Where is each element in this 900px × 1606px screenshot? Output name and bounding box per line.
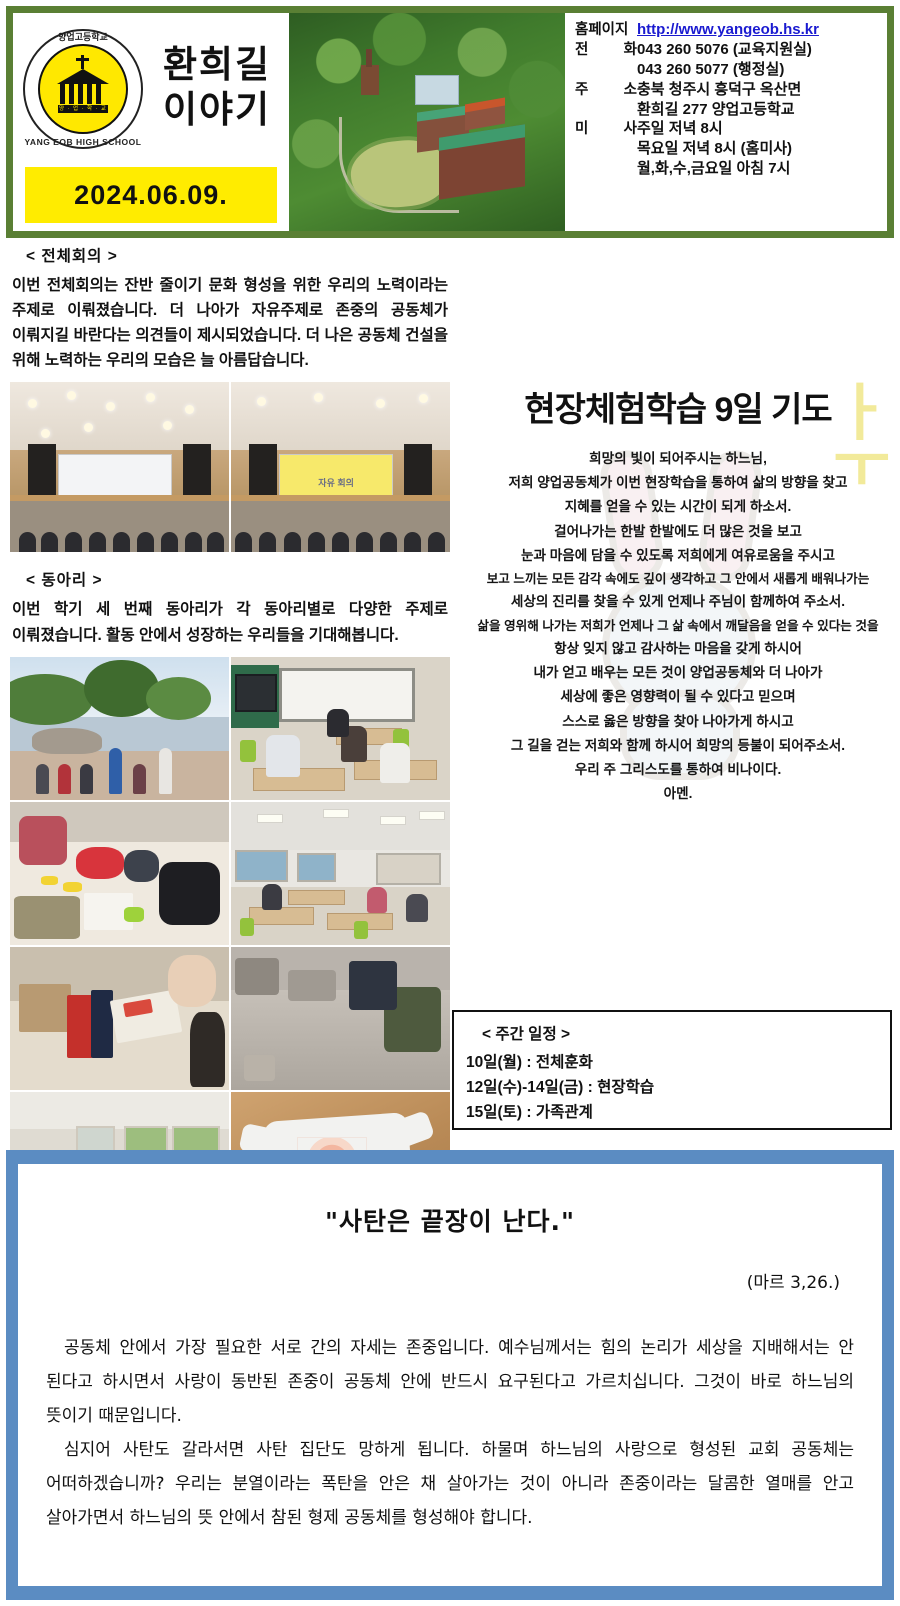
assembly-slide-2-text: 자유 회의 xyxy=(318,476,354,489)
prayer-body: 희망의 빛이 되어주시는 하느님,저희 양업공동체가 이번 현장학습을 통하여 … xyxy=(458,447,898,806)
assembly-section-title: < 전체회의 > xyxy=(10,244,450,266)
club-photo-boxes xyxy=(10,947,229,1090)
club-photo-craft-table xyxy=(10,802,229,945)
assembly-section-body: 이번 전체회의는 잔반 줄이기 문화 형성을 위한 우리의 노력이라는 주제로 … xyxy=(10,273,450,373)
contact-label: 홈페이지 xyxy=(575,23,637,38)
club-paragraph: 이번 학기 세 번째 동아리가 각 동아리별로 다양한 주제로 이뤄졌습니다. … xyxy=(12,597,448,647)
scripture-attribution: (마르 3,26.) xyxy=(46,1268,854,1293)
masthead: 양업고등학교 1998 양 · 업 · 학 · 교 YANG EOB HIGH … xyxy=(13,13,289,231)
newsletter-page: 양업고등학교 1998 양 · 업 · 학 · 교 YANG EOB HIGH … xyxy=(0,0,900,1606)
weekly-schedule-box: < 주간 일정 > 10일(월) : 전체훈화12일(수)-14일(금) : 현… xyxy=(452,1010,892,1130)
prayer-line: 희망의 빛이 되어주시는 하느님, xyxy=(458,447,898,471)
emblem-arc-bottom-text: YANG EOB HIGH SCHOOL xyxy=(21,137,145,147)
homily-text: 공동체 안에서 가장 필요한 서로 간의 자세는 존중입니다. 예수님께서는 힘… xyxy=(46,1331,854,1535)
homepage-link[interactable]: http://www.yangeob.hs.kr xyxy=(637,22,819,37)
prayer-panel: ㅏㅜ 현장체험학습 9일 기도 희망의 빛이 되어주시는 하느님,저희 양업공동… xyxy=(458,382,898,806)
club-section-title: < 동아리 > xyxy=(10,568,450,590)
contact-label: 전화 xyxy=(575,43,637,58)
schedule-row: 12일(수)-14일(금) : 현장학습 xyxy=(466,1075,890,1100)
prayer-line: 저희 양업공동체가 이번 현장학습을 통하여 삶의 방향을 찾고 xyxy=(458,471,898,495)
newsletter-header: 양업고등학교 1998 양 · 업 · 학 · 교 YANG EOB HIGH … xyxy=(6,6,894,238)
emblem-base-text: 양 · 업 · 학 · 교 xyxy=(58,105,108,113)
schedule-row: 10일(월) : 전체훈화 xyxy=(466,1050,890,1075)
contact-row: 043 260 5077 (행정실) xyxy=(575,62,881,77)
club-photo-grid xyxy=(10,657,450,1235)
masthead-top: 양업고등학교 1998 양 · 업 · 학 · 교 YANG EOB HIGH … xyxy=(13,17,289,161)
prayer-line: 세상에 좋은 영향력이 될 수 있다고 믿으며 xyxy=(458,685,898,709)
prayer-line: 그 길을 걷는 저희와 함께 하시어 희망의 등불이 되어주소서. xyxy=(458,734,898,758)
prayer-line: 걸어나가는 한발 한발에도 더 많은 것을 보고 xyxy=(458,520,898,544)
club-section-body: 이번 학기 세 번째 동아리가 각 동아리별로 다양한 주제로 이뤄졌습니다. … xyxy=(10,597,450,647)
prayer-line: 스스로 옳은 방향을 찾아 나아가게 하시고 xyxy=(458,710,898,734)
club-photo-outdoor-group xyxy=(10,657,229,800)
left-column: < 전체회의 > 이번 전체회의는 잔반 줄이기 문화 형성을 위한 우리의 노… xyxy=(10,244,450,1235)
prayer-line: 항상 잊지 않고 감사하는 마음을 갖게 하시어 xyxy=(458,637,898,661)
schedule-title: < 주간 일정 > xyxy=(466,1022,890,1044)
assembly-photo-grid: 자유 회의 xyxy=(10,382,450,552)
cross-icon xyxy=(81,55,84,69)
prayer-line: 아멘. xyxy=(458,782,898,806)
prayer-line: 보고 느끼는 모든 감각 속에도 깊이 생각하고 그 안에서 새롭게 배워나가는 xyxy=(458,568,898,590)
assembly-paragraph: 이번 전체회의는 잔반 줄이기 문화 형성을 위한 우리의 노력이라는 주제로 … xyxy=(12,273,448,373)
homily-panel: "사탄은 끝장이 난다." (마르 3,26.) 공동체 안에서 가장 필요한 … xyxy=(6,1150,894,1600)
prayer-line: 우리 주 그리스도를 통하여 비나이다. xyxy=(458,758,898,782)
homily-inner: "사탄은 끝장이 난다." (마르 3,26.) 공동체 안에서 가장 필요한 … xyxy=(18,1164,882,1586)
assembly-photo-1 xyxy=(10,382,229,552)
schedule-row: 15일(토) : 가족관계 xyxy=(466,1100,890,1125)
title-line-1: 환희길 xyxy=(163,46,271,83)
prayer-line: 세상의 진리를 찾을 수 있게 언제나 주님이 함께하여 주소서. xyxy=(458,590,898,614)
prayer-line: 내가 얻고 배우는 모든 것이 양업공동체와 더 나아가 xyxy=(458,661,898,685)
contact-value: 043 260 5076 (교육지원실) xyxy=(637,42,812,57)
right-column: ㅏㅜ 현장체험학습 9일 기도 희망의 빛이 되어주시는 하느님,저희 양업공동… xyxy=(458,244,898,806)
campus-aerial-photo xyxy=(289,13,565,231)
club-photo-floor xyxy=(231,947,450,1090)
school-emblem-icon: 양업고등학교 1998 양 · 업 · 학 · 교 YANG EOB HIGH … xyxy=(21,27,145,151)
contact-value: 043 260 5077 (행정실) xyxy=(637,62,784,77)
contact-row: 전화043 260 5076 (교육지원실) xyxy=(575,42,881,58)
main-content: < 전체회의 > 이번 전체회의는 잔반 줄이기 문화 형성을 위한 우리의 노… xyxy=(6,244,894,1144)
contact-row: 홈페이지http://www.yangeob.hs.kr xyxy=(575,22,881,38)
prayer-line: 눈과 마음에 담을 수 있도록 저희에게 여유로움을 주시고 xyxy=(458,544,898,568)
prayer-line: 삶을 영위해 나가는 저희가 언제나 그 삶 속에서 깨달음을 얻을 수 있다는… xyxy=(458,615,898,637)
club-photo-empty-classroom xyxy=(231,802,450,945)
homily-paragraph: 공동체 안에서 가장 필요한 서로 간의 자세는 존중입니다. 예수님께서는 힘… xyxy=(46,1331,854,1433)
club-photo-classroom-tablets xyxy=(231,657,450,800)
homily-paragraph: 심지어 사탄도 갈라서면 사탄 집단도 망하게 됩니다. 하물며 하느님의 사랑… xyxy=(46,1433,854,1535)
emblem-temple-icon: 1998 양 · 업 · 학 · 교 xyxy=(57,63,109,113)
scripture-quote: "사탄은 끝장이 난다." xyxy=(46,1202,854,1238)
prayer-line: 지혜를 얻을 수 있는 시간이 되게 하소서. xyxy=(458,495,898,519)
prayer-title: 현장체험학습 9일 기도 xyxy=(458,382,898,431)
assembly-photo-2: 자유 회의 xyxy=(231,382,450,552)
emblem-arc-top-text: 양업고등학교 xyxy=(21,30,145,43)
